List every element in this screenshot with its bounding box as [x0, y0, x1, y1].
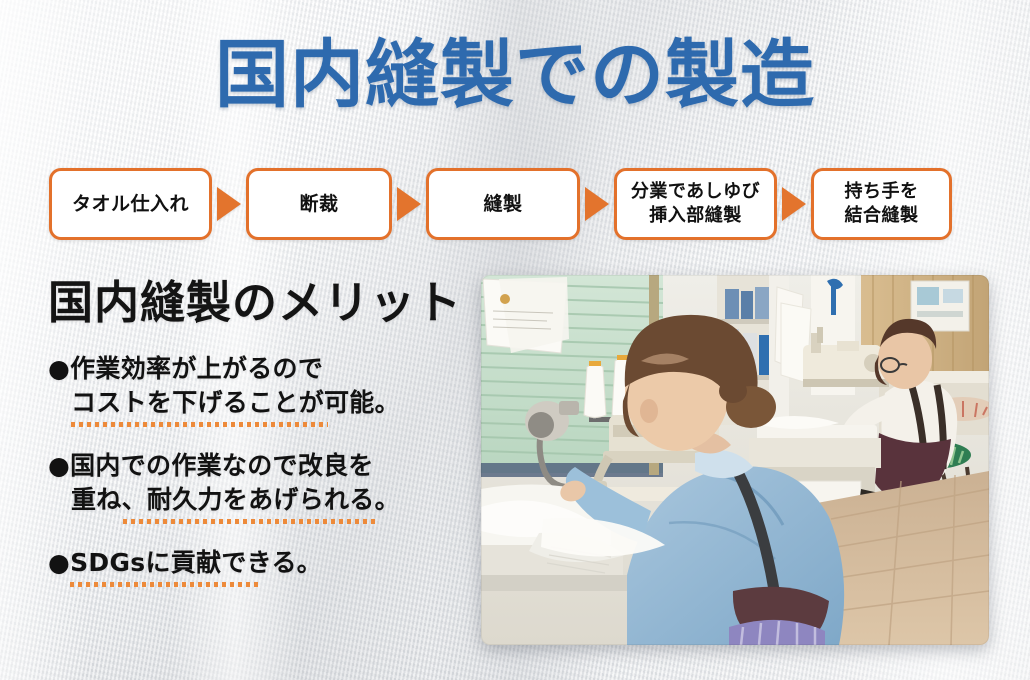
merit-item-3-underline [70, 582, 258, 587]
merit-item-2: ●国内での作業なので改良を 重ね、耐久力をあげられる。 [48, 449, 468, 524]
merit-item-2-line1: ●国内での作業なので改良を [48, 449, 468, 483]
flow-step-1-label: タオル仕入れ [72, 192, 189, 217]
slide-canvas: 国内縫製での製造 タオル仕入れ 断裁 縫製 分業であしゆび 挿入部縫製 持ち手を… [0, 0, 1030, 680]
flow-arrow-right-icon-1 [217, 187, 241, 221]
flow-arrow-right-icon-4 [782, 187, 806, 221]
flow-step-5-label: 持ち手を 結合縫製 [845, 180, 919, 228]
flow-step-3-label: 縫製 [483, 192, 522, 217]
process-flow: タオル仕入れ 断裁 縫製 分業であしゆび 挿入部縫製 持ち手を 結合縫製 [49, 168, 994, 240]
merit-item-1: ●作業効率が上がるので コストを下げることが可能。 [48, 352, 468, 427]
workshop-photo: brother [481, 275, 989, 645]
merit-item-1-underline [71, 422, 328, 427]
merit-item-3: ●SDGsに貢献できる。 [48, 546, 468, 587]
flow-step-1[interactable]: タオル仕入れ [49, 168, 212, 240]
flow-step-3[interactable]: 縫製 [426, 168, 580, 240]
merit-item-1-line2: コストを下げることが可能。 [48, 386, 468, 420]
flow-step-2[interactable]: 断裁 [246, 168, 392, 240]
flow-arrow-right-icon-3 [585, 187, 609, 221]
flow-step-2-label: 断裁 [299, 192, 338, 217]
merits-section: 国内縫製のメリット ●作業効率が上がるので コストを下げることが可能。 ●国内で… [48, 276, 468, 587]
merit-item-2-underline [123, 519, 378, 524]
merits-heading: 国内縫製のメリット [48, 276, 468, 330]
merit-item-3-line1: ●SDGsに貢献できる。 [48, 546, 468, 580]
merit-item-2-line2: 重ね、耐久力をあげられる。 [48, 483, 468, 517]
slide-title: 国内縫製での製造 [0, 32, 1030, 118]
flow-step-5[interactable]: 持ち手を 結合縫製 [811, 168, 952, 240]
merit-item-1-line1: ●作業効率が上がるので [48, 352, 468, 386]
flow-step-4[interactable]: 分業であしゆび 挿入部縫製 [614, 168, 777, 240]
flow-arrow-right-icon-2 [397, 187, 421, 221]
flow-step-4-label: 分業であしゆび 挿入部縫製 [631, 180, 760, 228]
workshop-photo-illustration: brother [481, 275, 989, 645]
